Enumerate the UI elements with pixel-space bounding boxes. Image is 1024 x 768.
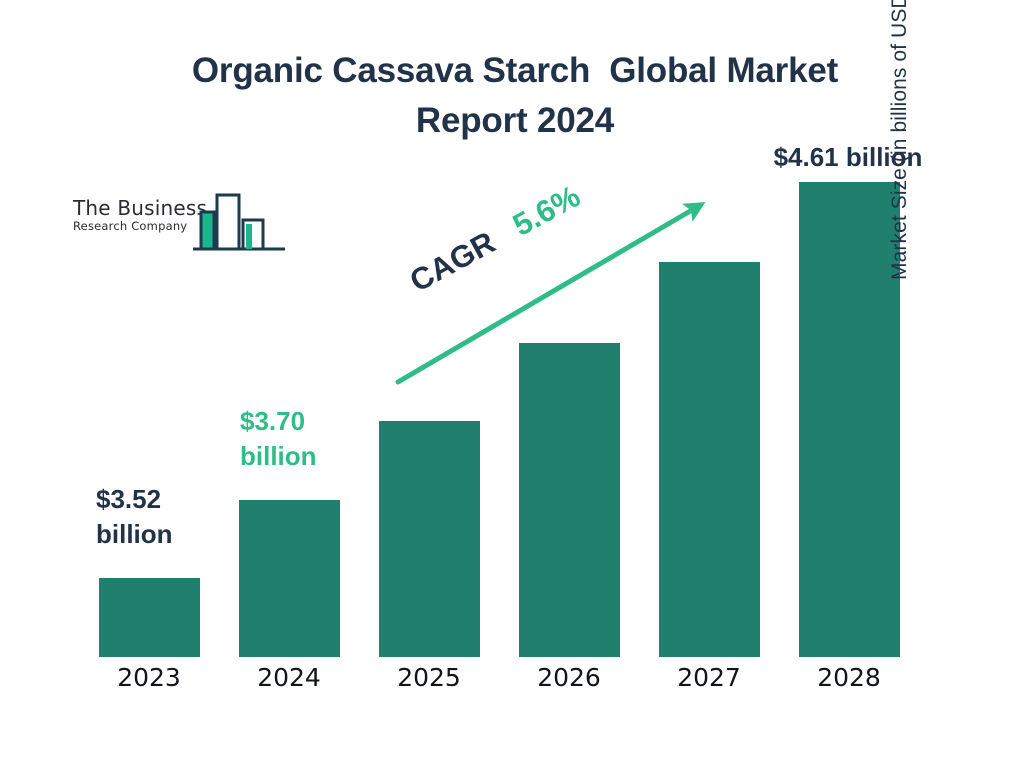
bar-label-2023: $3.52 billion	[96, 482, 248, 552]
bar-label-2023-line1: $3.52	[96, 482, 248, 517]
bar-label-2028: $4.61 billion	[737, 140, 959, 175]
company-logo: The Business Research Company	[73, 192, 285, 256]
bar-label-2024: $3.70 billion	[240, 404, 392, 474]
bar-2028[interactable]	[799, 182, 900, 657]
x-tick-2027: 2027	[639, 663, 779, 692]
x-tick-2028: 2028	[779, 663, 919, 692]
chart-title: Organic Cassava Starch Global Market Rep…	[120, 46, 910, 145]
cagr-word: CAGR	[404, 224, 501, 298]
logo-line-1: The Business	[73, 198, 203, 219]
bar-2026[interactable]	[519, 343, 620, 657]
x-tick-2024: 2024	[219, 663, 359, 692]
bar-label-2024-line2: billion	[240, 439, 392, 474]
x-tick-2023: 2023	[79, 663, 219, 692]
cagr-value: 5.6%	[507, 178, 586, 242]
chart-canvas: Organic Cassava Starch Global Market Rep…	[0, 0, 1024, 768]
bar-label-2024-line1: $3.70	[240, 404, 392, 439]
y-axis-title: Market Size (in billions of USD)	[888, 0, 912, 280]
cagr-label: CAGR 5.6%	[404, 178, 586, 299]
x-tick-2025: 2025	[359, 663, 499, 692]
bar-label-2023-line2: billion	[96, 517, 248, 552]
x-tick-2026: 2026	[499, 663, 639, 692]
logo-line-2: Research Company	[73, 220, 203, 234]
bar-label-2028-line1: $4.61 billion	[737, 140, 959, 175]
bar-2024[interactable]	[239, 500, 340, 657]
bar-chart-logo-mark-icon	[191, 192, 287, 254]
bar-2025[interactable]	[379, 421, 480, 657]
logo-wordmark: The Business Research Company	[73, 198, 203, 234]
bar-2023[interactable]	[99, 578, 200, 657]
bar-2027[interactable]	[659, 262, 760, 657]
